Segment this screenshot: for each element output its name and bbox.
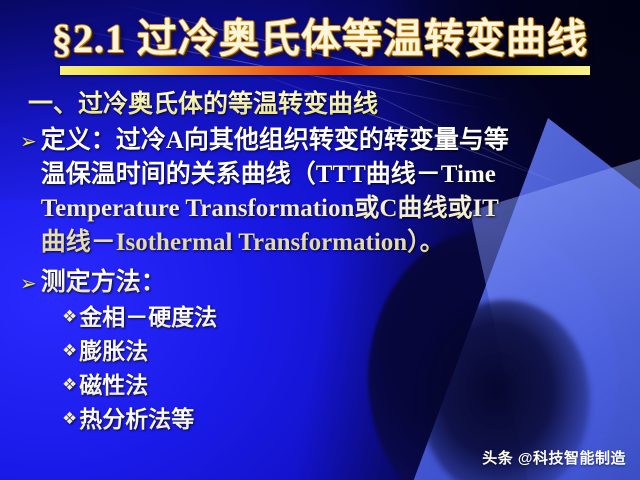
diamond-bullet-icon: ❖	[62, 301, 77, 334]
section-heading: 一、过冷奥氏体的等温转变曲线	[28, 84, 640, 120]
slide-title: §2.1 过冷奥氏体等温转变曲线	[52, 6, 588, 64]
slide-content: 一、过冷奥氏体的等温转变曲线 ➢ 定义：过冷A向其他组织转变的转变量与等 温保温…	[0, 84, 640, 436]
bullet-text-definition: 定义：过冷A向其他组织转变的转变量与等 温保温时间的关系曲线（TTT曲线－Tim…	[41, 124, 509, 260]
title-divider-bar	[60, 66, 590, 75]
arrow-bullet-icon: ➢	[20, 266, 37, 300]
sub-bullet-item: ❖ 磁性法	[62, 369, 640, 402]
sub-bullet-text: 金相－硬度法	[79, 301, 217, 334]
slide-canvas: §2.1 过冷奥氏体等温转变曲线 一、过冷奥氏体的等温转变曲线 ➢ 定义：过冷A…	[0, 0, 640, 480]
bullet-item-definition: ➢ 定义：过冷A向其他组织转变的转变量与等 温保温时间的关系曲线（TTT曲线－T…	[20, 124, 640, 260]
diamond-bullet-icon: ❖	[62, 335, 77, 368]
sub-bullet-text: 磁性法	[79, 369, 148, 402]
bullet-line: 温保温时间的关系曲线（TTT曲线－Time	[41, 161, 496, 188]
sub-bullet-text: 膨胀法	[79, 335, 148, 368]
arrow-bullet-icon: ➢	[20, 124, 37, 158]
slide-title-container: §2.1 过冷奥氏体等温转变曲线	[0, 6, 640, 64]
watermark-label: 头条 @科技智能制造	[482, 447, 626, 468]
sub-bullet-text: 热分析法等	[79, 403, 194, 436]
bullet-line: Temperature Transformation或C曲线或IT	[41, 195, 499, 222]
sub-bullet-item: ❖ 膨胀法	[62, 335, 640, 368]
diamond-bullet-icon: ❖	[62, 369, 77, 402]
bullet-text-methods: 测定方法：	[41, 266, 166, 300]
bullet-item-methods: ➢ 测定方法：	[20, 266, 640, 300]
diamond-bullet-icon: ❖	[62, 403, 77, 436]
bullet-line: 定义：过冷A向其他组织转变的转变量与等	[41, 127, 509, 154]
bullet-line: 曲线－Isothermal Transformation）。	[41, 229, 445, 256]
sub-bullet-item: ❖ 热分析法等	[62, 403, 640, 436]
sub-bullet-item: ❖ 金相－硬度法	[62, 301, 640, 334]
